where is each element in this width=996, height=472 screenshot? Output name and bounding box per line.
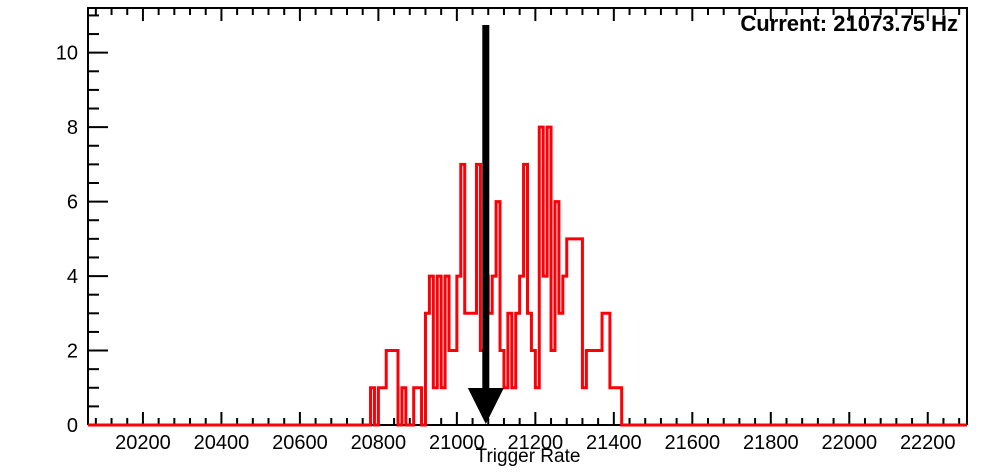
x-tick-label: 21600: [665, 432, 721, 454]
x-tick-label: 22000: [821, 432, 877, 454]
current-rate-annotation: Current: 21073.75 Hz: [740, 11, 958, 36]
x-tick-label: 21800: [743, 432, 799, 454]
y-tick-label: 10: [56, 43, 78, 65]
y-tick-label: 6: [67, 192, 78, 214]
current-value-marker: [468, 25, 504, 424]
y-tick-label: 4: [67, 266, 78, 288]
histogram-canvas: 2020020400206002080021000212002140021600…: [0, 0, 996, 472]
x-axis-title: Trigger Rate: [476, 446, 581, 467]
x-tick-label: 20600: [272, 432, 328, 454]
y-tick-label: 8: [67, 117, 78, 139]
x-tick-label: 20400: [194, 432, 250, 454]
x-tick-label: 20200: [115, 432, 171, 454]
y-axis-ticks: 0246810: [56, 15, 108, 437]
histogram-series: [88, 127, 967, 425]
y-tick-label: 0: [67, 415, 78, 437]
trigger-rate-histogram: 2020020400206002080021000212002140021600…: [0, 0, 996, 472]
x-tick-label: 21400: [586, 432, 642, 454]
histogram-outline: [88, 127, 967, 425]
x-tick-label: 20800: [351, 432, 407, 454]
y-tick-label: 2: [67, 341, 78, 363]
x-tick-label: 22200: [900, 432, 956, 454]
